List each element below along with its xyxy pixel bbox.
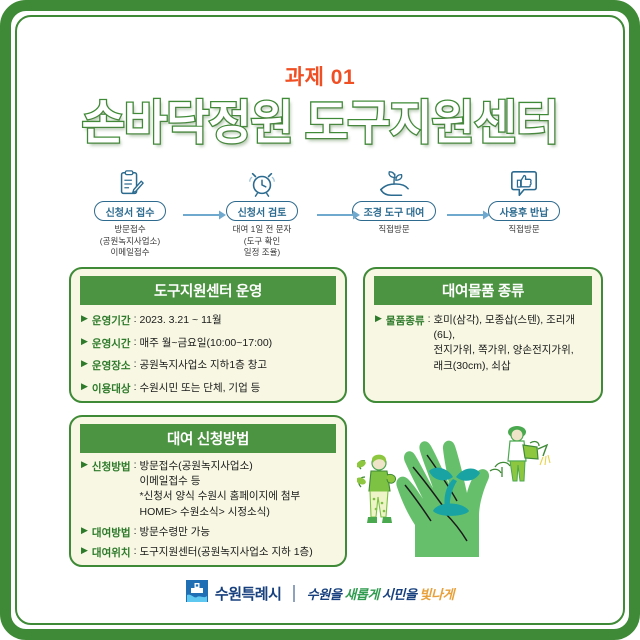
gardener-with-watering-can	[490, 426, 550, 481]
flow-step-4: 사용후 반납 직접방문	[465, 169, 583, 236]
operation-info-box: 도구지원센터 운영 ▶ 운영기간 : 2023. 3.21 ~ 11월 ▶ 운영…	[69, 267, 347, 403]
info-row-separator: :	[131, 313, 140, 325]
arrow-bullet-icon: ▶	[81, 314, 88, 323]
info-row-label: 대여위치	[92, 545, 131, 560]
arrow-right-icon	[447, 208, 491, 220]
arrow-bullet-icon: ▶	[81, 337, 88, 346]
footer-divider	[293, 585, 294, 602]
info-row-value: 수원시민 또는 단체, 기업 등	[139, 381, 335, 396]
open-hand-shape	[396, 441, 489, 557]
clipboard-pencil-icon	[71, 169, 189, 199]
alarm-clock-icon	[203, 169, 321, 199]
hand-with-sprout-illustration	[357, 417, 607, 567]
info-row-value: 매주 월~금요일(10:00~17:00)	[139, 336, 335, 351]
arrow-bullet-icon: ▶	[81, 546, 88, 555]
flow-step-1-sublabel: 방문접수 (공원녹지사업소) 이메일접수	[71, 224, 189, 259]
rental-items-box-title: 대여물품 종류	[374, 276, 592, 305]
info-row-value: 접수(대여 2일전) => 담당자 승인(대여 1일전)	[139, 565, 335, 567]
info-row: ▶ 운영시간 : 매주 월~금요일(10:00~17:00)	[81, 336, 335, 351]
flow-step-2-sublabel: 대여 1일 전 문자 (도구 확인 일정 조율)	[203, 224, 321, 259]
person-carrying-plants	[357, 455, 396, 523]
rental-items-box: 대여물품 종류 ▶ 물품종류 : 호미(삼각), 모종삽(스텐), 조리개(6L…	[363, 267, 603, 403]
info-row-value: 공원녹지사업소 지하1층 창고	[139, 358, 335, 373]
application-box-title: 대여 신청방법	[80, 424, 336, 453]
task-number-label: 과제 01	[17, 61, 623, 91]
flow-step-2-label: 신청서 검토	[226, 201, 299, 221]
application-method-box: 대여 신청방법 ▶ 신청방법 : 방문접수(공원녹지사업소) 이메일접수 등 *…	[69, 415, 347, 567]
info-row-separator: :	[131, 525, 140, 537]
info-row-separator: :	[425, 313, 434, 325]
info-row-label: 물품종류	[386, 313, 425, 328]
flow-step-1: 신청서 접수 방문접수 (공원녹지사업소) 이메일접수	[71, 169, 189, 259]
arrow-right-icon	[183, 208, 227, 220]
info-row-value: 도구지원센터(공원녹지사업소 지하 1층)	[139, 545, 335, 560]
arrow-bullet-icon: ▶	[81, 382, 88, 391]
flow-step-4-label: 사용후 반납	[488, 201, 561, 221]
info-row-separator: :	[131, 545, 140, 557]
info-row-label: 대여방법	[92, 525, 131, 540]
info-row-label: 이용대상	[92, 381, 131, 396]
info-row-label: 운영시간	[92, 336, 131, 351]
footer-slogan-part3: 시민을	[379, 587, 419, 602]
arrow-bullet-icon: ▶	[81, 526, 88, 535]
application-box-body: ▶ 신청방법 : 방문접수(공원녹지사업소) 이메일접수 등 *신청서 양식 수…	[71, 453, 345, 567]
info-row-separator: :	[131, 381, 140, 393]
footer-slogan-part1: 수원을	[307, 587, 345, 602]
flow-step-1-label: 신청서 접수	[94, 201, 167, 221]
flow-step-3-label: 조경 도구 대여	[352, 201, 437, 221]
info-row: ▶ 대여위치 : 도구지원센터(공원녹지사업소 지하 1층)	[81, 545, 335, 560]
info-row-separator: :	[131, 358, 140, 370]
thumbs-up-speech-icon	[465, 169, 583, 199]
rental-items-box-body: ▶ 물품종류 : 호미(삼각), 모종삽(스텐), 조리개(6L), 전지가위,…	[365, 305, 601, 382]
arrow-bullet-icon: ▶	[81, 359, 88, 368]
info-row: ▶ 이용대상 : 수원시민 또는 단체, 기업 등	[81, 381, 335, 396]
info-row: ▶ 신청방법 : 방문접수(공원녹지사업소) 이메일접수 등 *신청서 양식 수…	[81, 459, 335, 520]
footer-slogan-part2: 새롭게	[344, 587, 379, 602]
poster-root: 과제 01 손바닥정원 도구지원센터 신청서 접수 방문접수 (공원녹지	[0, 0, 640, 640]
info-row-value: 2023. 3.21 ~ 11월	[139, 313, 335, 328]
info-row-separator: :	[131, 336, 140, 348]
info-row-separator: :	[131, 565, 140, 567]
hand-sprout-icon	[335, 169, 453, 199]
info-row: ▶ 대여방법 : 방문수령만 가능	[81, 525, 335, 540]
page-title: 손바닥정원 도구지원센터	[17, 98, 623, 149]
footer: 수원특례시 수원을 새롭게 시민을 빛나게	[17, 580, 623, 607]
info-row-label: 처리절차	[92, 565, 131, 567]
arrow-right-icon	[317, 208, 361, 220]
info-row: ▶ 처리절차 : 접수(대여 2일전) => 담당자 승인(대여 1일전)	[81, 565, 335, 567]
info-row-value: 호미(삼각), 모종삽(스텐), 조리개(6L), 전지가위, 쪽가위, 양손전…	[433, 313, 591, 374]
info-row-separator: :	[131, 459, 140, 471]
suwon-city-emblem-icon	[186, 580, 208, 607]
footer-slogan-part4: 빛나게	[419, 587, 454, 602]
arrow-bullet-icon: ▶	[81, 566, 88, 567]
info-row: ▶ 물품종류 : 호미(삼각), 모종삽(스텐), 조리개(6L), 전지가위,…	[375, 313, 591, 374]
footer-city-name: 수원특례시	[215, 583, 282, 604]
arrow-bullet-icon: ▶	[81, 460, 88, 469]
info-row: ▶ 운영기간 : 2023. 3.21 ~ 11월	[81, 313, 335, 328]
info-row: ▶ 운영장소 : 공원녹지사업소 지하1층 창고	[81, 358, 335, 373]
info-row-value: 방문수령만 가능	[139, 525, 335, 540]
operation-box-body: ▶ 운영기간 : 2023. 3.21 ~ 11월 ▶ 운영시간 : 매주 월~…	[71, 305, 345, 403]
info-row-label: 신청방법	[92, 459, 131, 474]
info-row-label: 운영장소	[92, 358, 131, 373]
arrow-bullet-icon: ▶	[375, 314, 382, 323]
info-row-value: 방문접수(공원녹지사업소) 이메일접수 등 *신청서 양식 수원시 홈페이지에 …	[139, 459, 335, 520]
process-flow: 신청서 접수 방문접수 (공원녹지사업소) 이메일접수 신청서 검토 대	[69, 169, 581, 255]
flow-step-3: 조경 도구 대여 직접방문	[335, 169, 453, 236]
flow-step-3-sublabel: 직접방문	[335, 224, 453, 236]
operation-box-title: 도구지원센터 운영	[80, 276, 336, 305]
footer-slogan: 수원을 새롭게 시민을 빛나게	[307, 584, 454, 603]
info-row-label: 운영기간	[92, 313, 131, 328]
flow-step-4-sublabel: 직접방문	[465, 224, 583, 236]
poster-content: 과제 01 손바닥정원 도구지원센터 신청서 접수 방문접수 (공원녹지	[17, 17, 623, 623]
